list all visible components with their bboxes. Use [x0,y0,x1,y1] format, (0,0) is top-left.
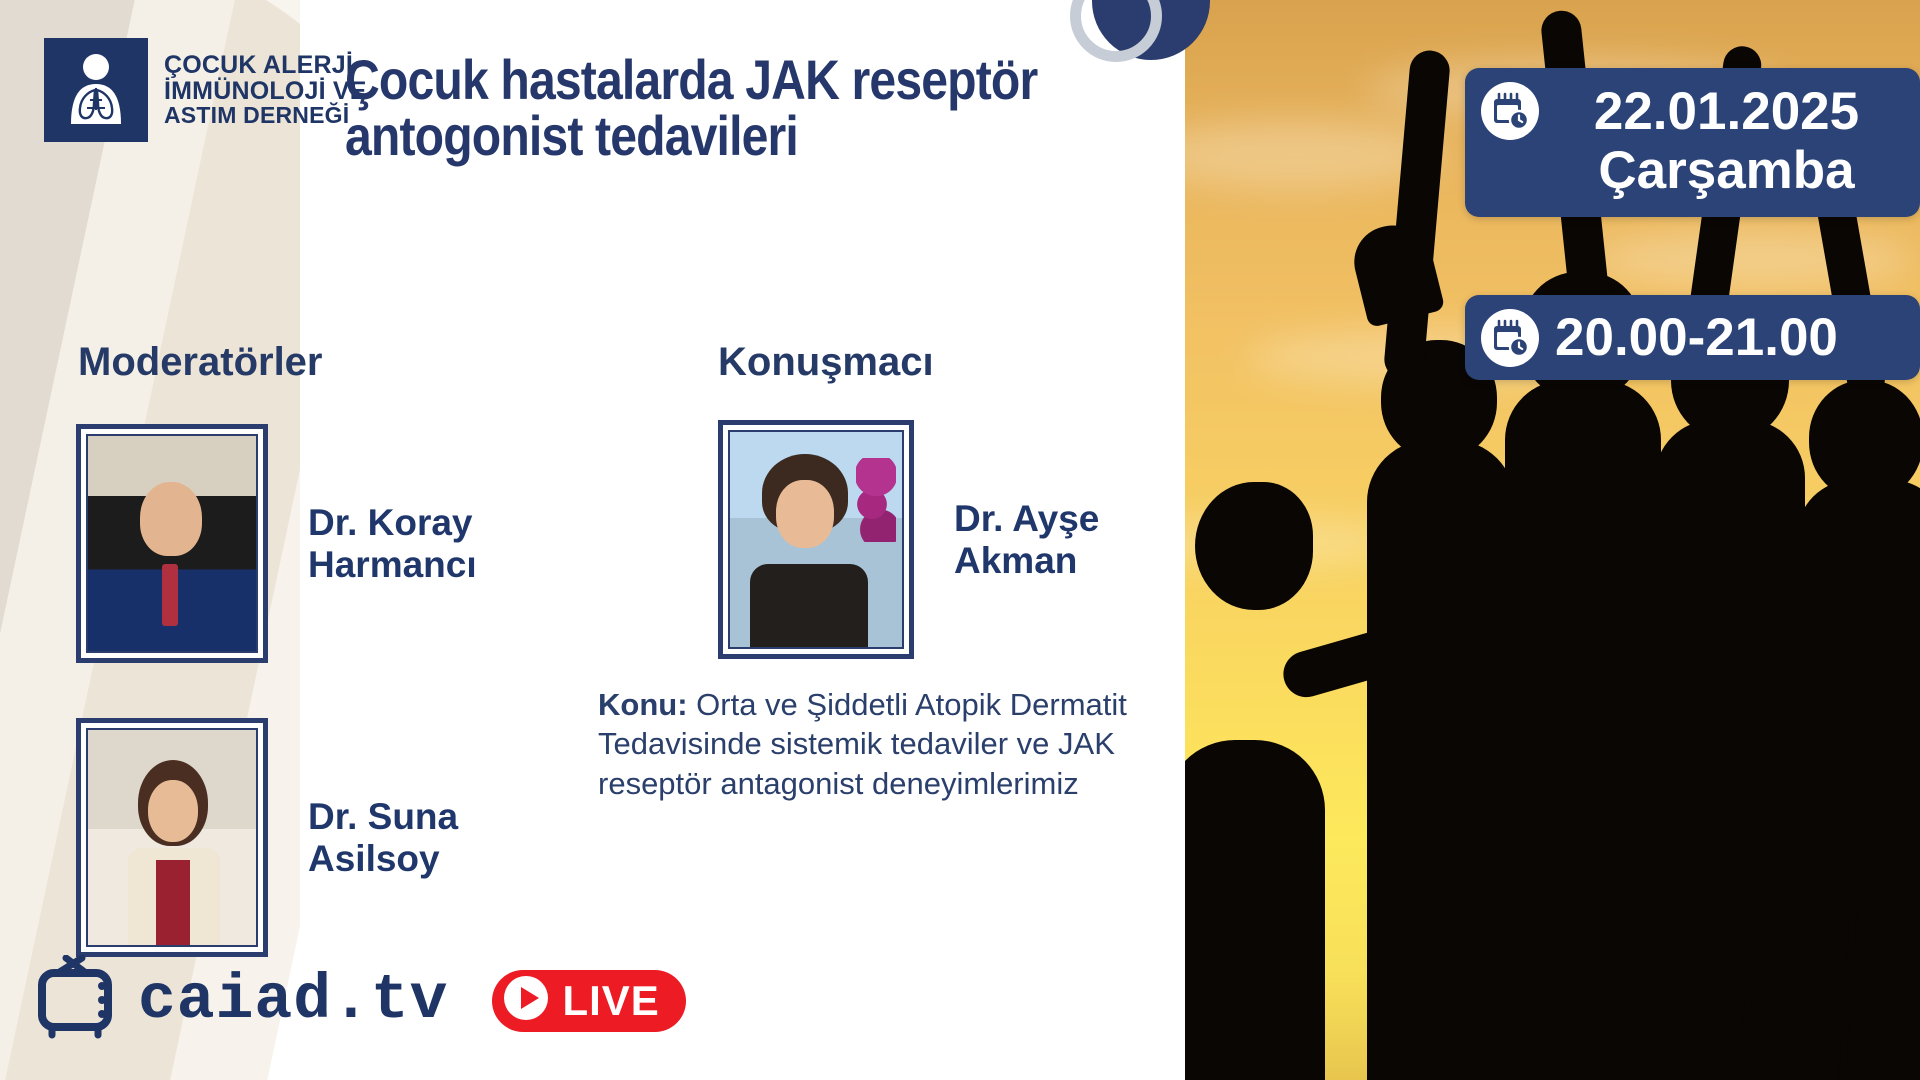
avatar-face [776,480,834,548]
moderator-card: Dr. Suna Asilsoy [76,718,458,957]
moderator-name: Dr. Koray Harmancı [308,502,477,585]
date-value: 22.01.2025 Çarşamba [1553,82,1900,201]
speaker-heading: Konuşmacı [718,340,934,385]
avatar-background-plant [856,458,896,542]
avatar-scarf [156,860,190,947]
portrait-frame [76,424,268,663]
org-name-line-3: ASTIM DERNEĞİ [164,104,367,128]
date-line: 22.01.2025 [1553,82,1900,141]
moderator-name: Dr. Suna Asilsoy [308,796,458,879]
speaker-card: Dr. Ayşe Akman [718,420,1099,659]
status-badge[interactable]: LIVE [492,970,685,1032]
calendar-clock-icon [1481,309,1539,367]
portrait-frame [76,718,268,957]
page-title: Çocuk hastalarda JAK reseptör antogonist… [345,52,1050,164]
moderator-card: Dr. Koray Harmancı [76,424,477,663]
avatar-face [148,780,198,842]
footer-brand: caiad.tv LIVE [36,955,686,1046]
play-icon [502,974,550,1027]
portrait-frame [718,420,914,659]
avatar [730,432,902,647]
calendar-clock-icon [1481,82,1539,140]
portrait-frame-inner [86,728,258,947]
avatar [88,730,256,945]
organization-logo: ÇOCUK ALERJİ İMMÜNOLOJİ VE ASTIM DERNEĞİ [44,38,367,142]
avatar [88,436,256,651]
time-value: 20.00-21.00 [1555,307,1900,368]
site-url[interactable]: caiad.tv [138,965,448,1036]
topic-label: Konu: [598,687,688,722]
org-name-line-2: İMMÜNOLOJİ VE [164,78,367,104]
event-time-badge: 20.00-21.00 [1465,295,1920,380]
organization-name: ÇOCUK ALERJİ İMMÜNOLOJİ VE ASTIM DERNEĞİ [164,52,367,128]
org-name-line-1: ÇOCUK ALERJİ [164,52,367,78]
speaker-name: Dr. Ayşe Akman [954,498,1099,581]
lungs-torso-icon [44,38,148,142]
event-date-badge: 22.01.2025 Çarşamba [1465,68,1920,217]
portrait-frame-inner [728,430,904,649]
topic-description: Konu: Orta ve Şiddetli Atopik Dermatit T… [598,685,1188,803]
live-label: LIVE [562,977,659,1025]
portrait-frame-inner [86,434,258,653]
television-icon [36,955,132,1046]
day-line: Çarşamba [1553,141,1900,200]
moderators-heading: Moderatörler [78,340,323,385]
